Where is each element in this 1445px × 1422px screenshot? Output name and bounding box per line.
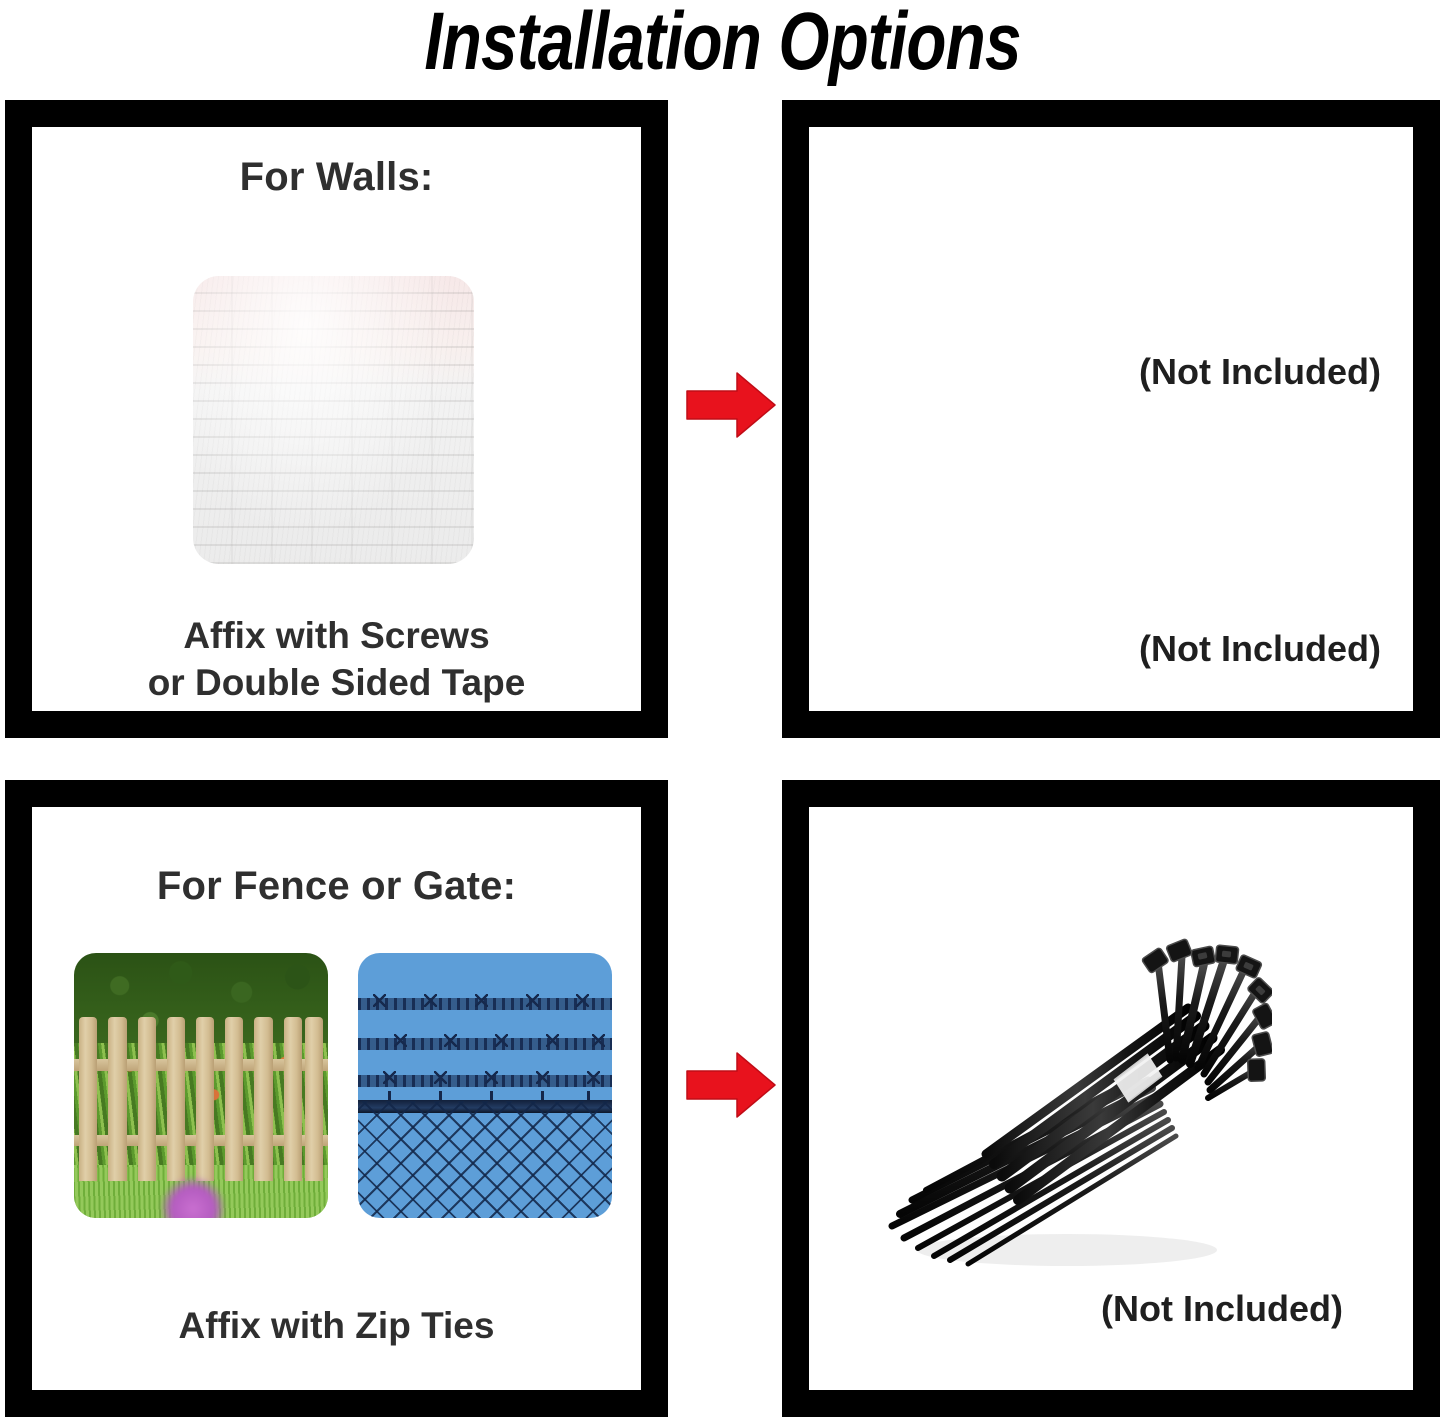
panel-wall-hardware-content: (Not Included) (Not Included): [809, 127, 1413, 711]
barb: [424, 994, 437, 1007]
barb: [444, 1034, 457, 1047]
picket: [284, 1017, 302, 1181]
wooden-picket-fence-photo: [74, 953, 328, 1218]
picket: [138, 1017, 156, 1181]
wall-highlight: [193, 276, 474, 564]
screws-not-included-label: (Not Included): [1139, 628, 1381, 670]
for-fence-heading: For Fence or Gate:: [32, 864, 641, 909]
picket: [167, 1017, 185, 1181]
barb: [383, 1071, 396, 1084]
chain-link-barbed-wire-fence-photo: [358, 953, 612, 1218]
white-brick-wall-swatch: [193, 276, 474, 564]
panel-for-walls-content: For Walls: Affix with Screws or Double S…: [32, 127, 641, 711]
red-right-arrow-icon-top: [685, 371, 777, 439]
picket: [305, 1017, 323, 1181]
picket: [108, 1017, 126, 1181]
barb: [394, 1034, 407, 1047]
chain-link-mesh: [358, 1101, 612, 1218]
black-zip-tie-bundle: [852, 908, 1272, 1280]
for-walls-heading: For Walls:: [32, 155, 641, 200]
picket: [254, 1017, 272, 1181]
for-fence-caption: Affix with Zip Ties: [32, 1302, 641, 1349]
barb: [592, 1034, 605, 1047]
for-walls-caption-line1: Affix with Screws: [32, 612, 641, 659]
barb: [536, 1071, 549, 1084]
barb: [587, 1071, 600, 1084]
picket: [225, 1017, 243, 1181]
for-walls-caption-line2: or Double Sided Tape: [32, 659, 641, 706]
zipties-not-included-label: (Not Included): [1101, 1288, 1343, 1330]
picket: [196, 1017, 214, 1181]
panel-for-walls: For Walls: Affix with Screws or Double S…: [5, 100, 668, 738]
barb: [434, 1071, 447, 1084]
picket: [79, 1017, 97, 1181]
garden-path: [160, 1176, 226, 1218]
red-right-arrow-icon-bottom: [685, 1051, 777, 1119]
barb: [495, 1034, 508, 1047]
barb: [485, 1071, 498, 1084]
for-walls-caption: Affix with Screws or Double Sided Tape: [32, 612, 641, 707]
tape-not-included-label: (Not Included): [1139, 351, 1381, 393]
barb: [576, 994, 589, 1007]
picket-group: [74, 1017, 328, 1181]
barb: [546, 1034, 559, 1047]
panel-wall-hardware: (Not Included) (Not Included): [782, 100, 1440, 738]
barb: [475, 994, 488, 1007]
page-title: Installation Options: [145, 0, 1301, 90]
barb: [373, 994, 386, 1007]
barb: [526, 994, 539, 1007]
